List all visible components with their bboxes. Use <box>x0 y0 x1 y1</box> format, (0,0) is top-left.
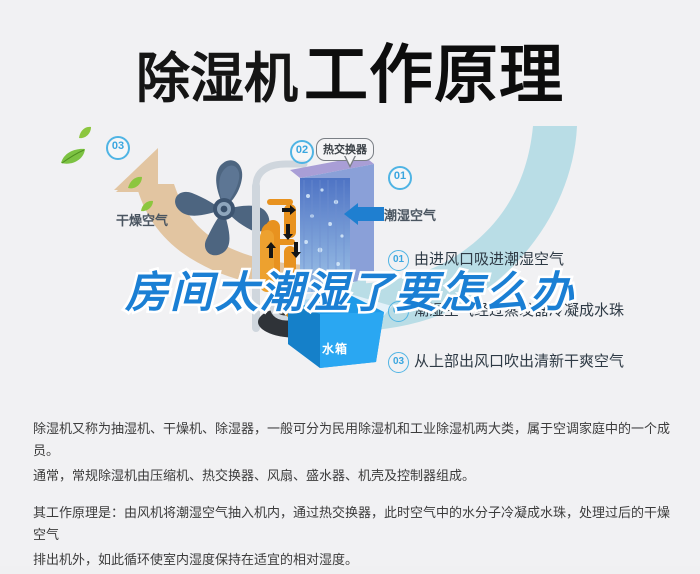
paragraph-2-line-1: 其工作原理是：由风机将潮湿空气抽入机内，通过热交换器，此时空气中的水分子冷凝成水… <box>33 502 673 546</box>
badge-01: 01 <box>388 166 412 190</box>
body-copy: 除湿机又称为抽湿机、干燥机、除湿器，一般可分为民用除湿机和工业除湿机两大类，属于… <box>33 418 673 574</box>
label-humid-air: 潮湿空气 <box>384 205 436 224</box>
leaf-icon <box>78 126 92 140</box>
page-title-part1: 除湿机 <box>136 49 298 109</box>
paragraph-1-line-2: 通常，常规除湿机由压缩机、热交换器、风扇、盛水器、机壳及控制器组成。 <box>33 465 673 487</box>
badge-02: 02 <box>290 140 314 164</box>
paragraph-2-line-2: 排出机外，如此循环使室内湿度保持在适宜的相对湿度。 <box>33 549 673 571</box>
page-title-part2: 工作原理 <box>304 39 564 111</box>
label-water-tank: 水箱 <box>322 340 348 357</box>
paragraph-1-line-1: 除湿机又称为抽湿机、干燥机、除湿器，一般可分为民用除湿机和工业除湿机两大类，属于… <box>33 418 673 462</box>
page-title: 除湿机工作原理 <box>0 24 700 116</box>
leaf-icon <box>127 176 143 190</box>
page-root: 除湿机工作原理 <box>0 0 700 566</box>
leaf-icon <box>60 148 86 166</box>
paragraph-gap <box>33 490 673 502</box>
overlay-headline: 房间太潮湿了要怎么办 <box>0 258 700 320</box>
label-dry-air: 干燥空气 <box>116 210 168 229</box>
list-item: 03 从上部出风口吹出清新干爽空气 <box>388 350 688 381</box>
badge-03: 03 <box>106 136 130 160</box>
step-text: 从上部出风口吹出清新干爽空气 <box>414 350 624 371</box>
callout-tail-icon <box>344 156 356 168</box>
inlet-arrow-icon <box>344 203 384 225</box>
step-number: 03 <box>388 352 409 373</box>
